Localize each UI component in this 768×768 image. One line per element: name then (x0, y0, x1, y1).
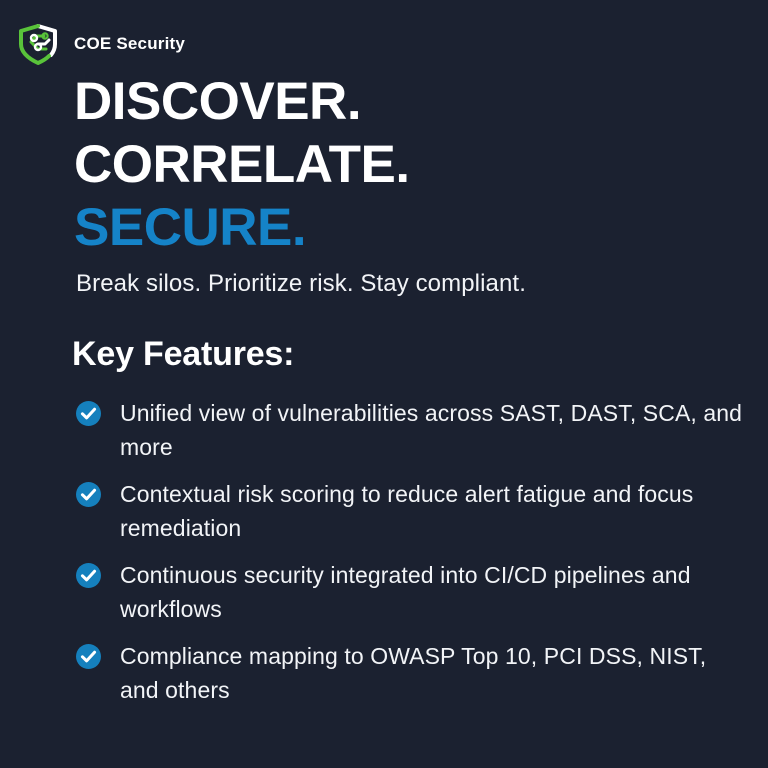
brand-name: COE Security (74, 34, 185, 54)
headline-line-3: SECURE. (74, 196, 734, 259)
check-circle-icon (76, 644, 101, 669)
list-item: Compliance mapping to OWASP Top 10, PCI … (76, 639, 748, 707)
check-circle-icon (76, 401, 101, 426)
list-item-label: Contextual risk scoring to reduce alert … (120, 477, 748, 545)
list-item-label: Compliance mapping to OWASP Top 10, PCI … (120, 639, 748, 707)
list-item-label: Unified view of vulnerabilities across S… (120, 396, 748, 464)
key-features-heading: Key Features: (72, 332, 294, 376)
key-features-list: Unified view of vulnerabilities across S… (76, 396, 748, 720)
list-item-label: Continuous security integrated into CI/C… (120, 558, 748, 626)
list-item: Continuous security integrated into CI/C… (76, 558, 748, 626)
headline-line-1: DISCOVER. (74, 70, 734, 133)
headline: DISCOVER. CORRELATE. SECURE. (74, 70, 734, 259)
brand-header: COE Security (14, 20, 185, 68)
check-circle-icon (76, 563, 101, 588)
headline-line-2: CORRELATE. (74, 133, 734, 196)
list-item: Contextual risk scoring to reduce alert … (76, 477, 748, 545)
shield-circuit-icon (14, 20, 62, 68)
subtitle: Break silos. Prioritize risk. Stay compl… (76, 268, 526, 300)
check-circle-icon (76, 482, 101, 507)
list-item: Unified view of vulnerabilities across S… (76, 396, 748, 464)
promo-poster: COE Security DISCOVER. CORRELATE. SECURE… (0, 0, 768, 768)
